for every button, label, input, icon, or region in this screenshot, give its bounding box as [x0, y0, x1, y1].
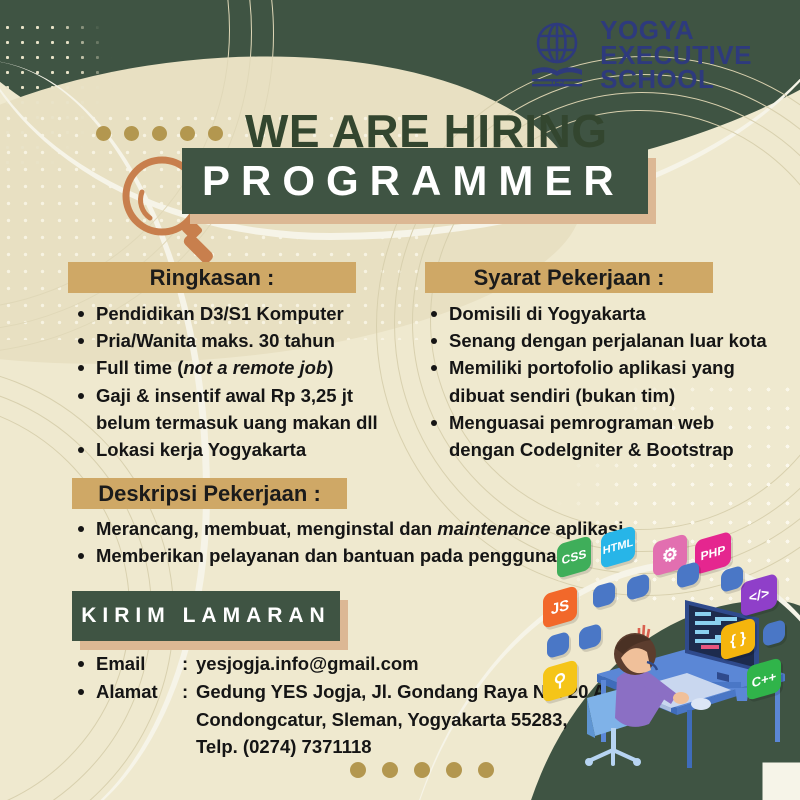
- email-value[interactable]: yesjogja.info@gmail.com: [196, 653, 419, 674]
- brand-name: YOGYA EXECUTIVE SCHOOL: [600, 18, 752, 92]
- decor-dots-bottom: [350, 762, 494, 778]
- list-item: Pria/Wanita maks. 30 tahun: [75, 327, 378, 354]
- colon: :: [182, 678, 196, 706]
- globe-book-icon: YES: [526, 20, 588, 90]
- list-item: Menguasai pemrograman web: [428, 409, 767, 436]
- section-title-syarat: Syarat Pekerjaan :: [474, 265, 665, 291]
- list-item: Full time (not a remote job): [75, 354, 378, 381]
- hiring-poster: YES YOGYA EXECUTIVE SCHOOL WE ARE HIRING…: [0, 0, 800, 800]
- brand-line-1: YOGYA: [600, 18, 752, 43]
- address-label: Alamat: [96, 678, 182, 706]
- section-header-syarat: Syarat Pekerjaan :: [425, 262, 713, 293]
- list-ringkasan: Pendidikan D3/S1 Komputer Pria/Wanita ma…: [75, 300, 378, 463]
- role-banner: PROGRAMMER: [182, 148, 648, 214]
- list-item: Domisili di Yogyakarta: [428, 300, 767, 327]
- programmer-at-desk-illustration: CSS HTML ⚙ PHP JS </> { } C++ ⚲: [535, 522, 800, 772]
- colon: :: [182, 650, 196, 678]
- list-item-continuation: dengan CodeIgniter & Bootstrap: [428, 436, 767, 463]
- list-item: Gaji & insentif awal Rp 3,25 jt: [75, 382, 378, 409]
- contact-address-row-2: Condongcatur, Sleman, Yogyakarta 55283,: [75, 706, 611, 734]
- apply-banner: KIRIM LAMARAN: [72, 591, 340, 641]
- section-header-ringkasan: Ringkasan :: [68, 262, 356, 293]
- list-item: Senang dengan perjalanan luar kota: [428, 327, 767, 354]
- section-title-ringkasan: Ringkasan :: [150, 265, 275, 291]
- list-item-continuation: dibuat sendiri (bukan tim): [428, 382, 767, 409]
- brand-logo: YES YOGYA EXECUTIVE SCHOOL: [526, 18, 752, 92]
- decor-dots-top: [96, 126, 223, 141]
- list-item-continuation: belum termasuk uang makan dll: [75, 409, 378, 436]
- contact-address-row: Alamat:Gedung YES Jogja, Jl. Gondang Ray…: [75, 678, 611, 706]
- section-title-deskripsi: Deskripsi Pekerjaan :: [98, 481, 321, 507]
- svg-text:YES: YES: [550, 79, 564, 86]
- contact-phone-row: Telp. (0274) 7371118: [75, 733, 611, 761]
- list-item: Memiliki portofolio aplikasi yang: [428, 354, 767, 381]
- role-title: PROGRAMMER: [182, 157, 625, 205]
- list-syarat: Domisili di Yogyakarta Senang dengan per…: [428, 300, 767, 463]
- email-label: Email: [96, 650, 182, 678]
- brand-line-3: SCHOOL: [600, 67, 752, 92]
- section-header-deskripsi: Deskripsi Pekerjaan :: [72, 478, 347, 509]
- list-item: Pendidikan D3/S1 Komputer: [75, 300, 378, 327]
- address-line-2: Condongcatur, Sleman, Yogyakarta 55283,: [196, 709, 568, 730]
- address-line-3: Telp. (0274) 7371118: [196, 736, 372, 757]
- contact-email-row: Email:yesjogja.info@gmail.com: [75, 650, 611, 678]
- list-item: Lokasi kerja Yogyakarta: [75, 436, 378, 463]
- apply-banner-label: KIRIM LAMARAN: [81, 604, 330, 628]
- contact-list: Email:yesjogja.info@gmail.com Alamat:Ged…: [75, 650, 611, 761]
